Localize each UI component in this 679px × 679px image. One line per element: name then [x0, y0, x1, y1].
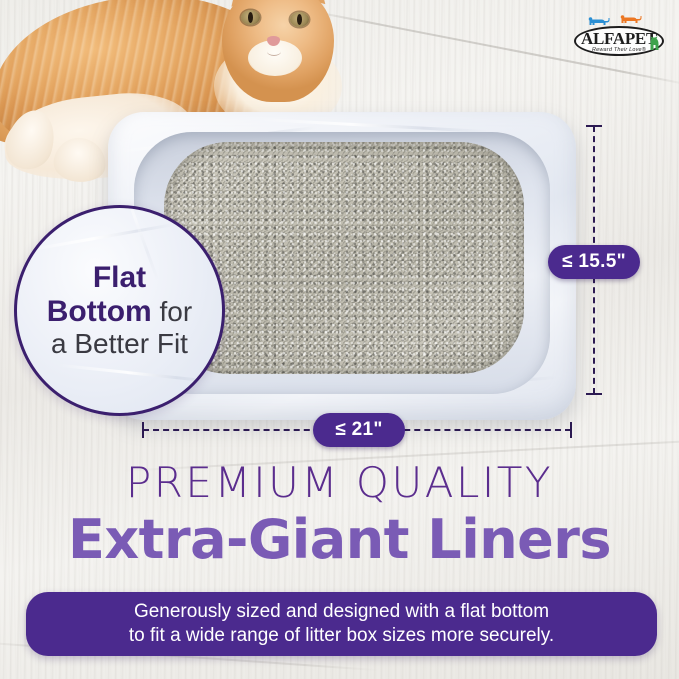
product-marketing-image: ≤ 15.5" ≤ 21" Flat Bottom for a Better F…	[0, 0, 679, 679]
badge-line-1: Flat	[47, 261, 192, 295]
page-title-extra-giant-liners: Extra-Giant Liners	[0, 508, 679, 571]
page-title-premium-quality: PREMIUM QUALITY	[0, 458, 679, 507]
cat-pupil-right	[297, 14, 302, 25]
height-dimension-cap-bottom	[586, 393, 602, 395]
dog-orange-icon	[620, 15, 642, 26]
height-dimension-cap-top	[586, 125, 602, 127]
banner-line-2: to fit a wide range of litter box sizes …	[129, 624, 554, 648]
width-dimension-cap-right	[570, 422, 572, 438]
badge-line-3: a Better Fit	[47, 328, 192, 359]
alfapet-logo: ALFAPET Reward Their Love®	[572, 12, 668, 60]
badge-liner-crease	[57, 364, 216, 384]
badge-line-2-rest: for	[152, 296, 192, 327]
badge-text-block: Flat Bottom for a Better Fit	[33, 261, 206, 360]
badge-line-2-strong: Bottom	[47, 295, 152, 328]
description-banner: Generously sized and designed with a fla…	[26, 592, 657, 656]
badge-line-2: Bottom for	[47, 295, 192, 329]
height-dimension-label: ≤ 15.5"	[548, 245, 640, 279]
width-dimension-cap-left	[142, 422, 144, 438]
width-dimension-label: ≤ 21"	[313, 413, 405, 447]
banner-line-1: Generously sized and designed with a fla…	[134, 600, 549, 624]
cat-mouth	[267, 47, 281, 56]
cat-pupil-left	[248, 12, 253, 23]
flat-bottom-badge: Flat Bottom for a Better Fit	[14, 205, 225, 416]
cat-green-icon	[648, 36, 661, 52]
